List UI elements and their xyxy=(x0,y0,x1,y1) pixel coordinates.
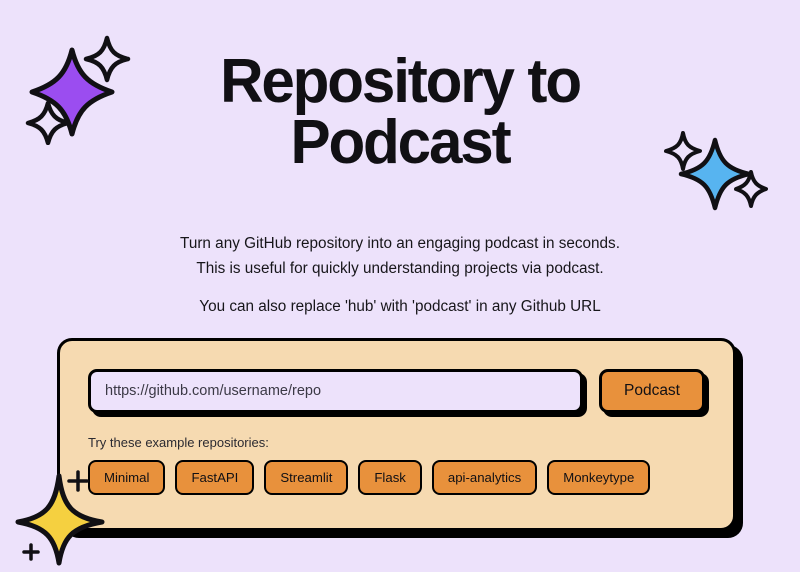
example-chip-list: Minimal FastAPI Streamlit Flask api-anal… xyxy=(88,460,705,495)
input-row: Podcast xyxy=(88,369,705,413)
example-chip-monkeytype[interactable]: Monkeytype xyxy=(547,460,650,495)
example-chip-minimal[interactable]: Minimal xyxy=(88,460,165,495)
example-chip-api-analytics[interactable]: api-analytics xyxy=(432,460,537,495)
subtitle-line-1: Turn any GitHub repository into an engag… xyxy=(0,232,800,257)
subtitle-line-2: This is useful for quickly understanding… xyxy=(0,257,800,282)
podcast-submit-button[interactable]: Podcast xyxy=(599,369,705,413)
example-chip-fastapi[interactable]: FastAPI xyxy=(175,460,254,495)
subtitle-line-3: You can also replace 'hub' with 'podcast… xyxy=(0,295,800,320)
subtitle-block: Turn any GitHub repository into an engag… xyxy=(0,232,800,319)
page-title-line-1: Repository to xyxy=(220,47,580,116)
subtitle-spacer xyxy=(0,282,800,295)
page-title: Repository to Podcast xyxy=(12,52,788,174)
repo-input-card: Podcast Try these example repositories: … xyxy=(57,338,736,531)
examples-label: Try these example repositories: xyxy=(88,435,705,450)
example-chip-streamlit[interactable]: Streamlit xyxy=(264,460,348,495)
page-title-line-2: Podcast xyxy=(290,108,509,177)
repo-url-input[interactable] xyxy=(88,369,583,413)
example-chip-flask[interactable]: Flask xyxy=(358,460,422,495)
